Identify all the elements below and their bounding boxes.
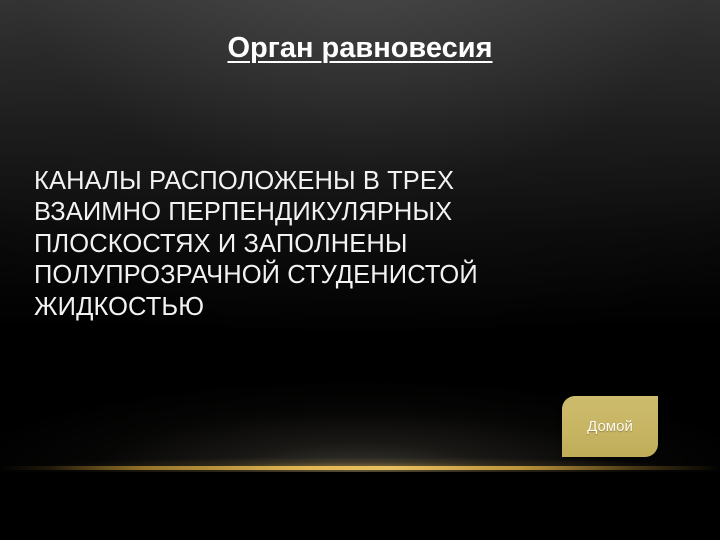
body-line: КАНАЛЫ РАСПОЛОЖЕНЫ В ТРЕХ xyxy=(34,166,594,197)
home-button-label: Домой xyxy=(587,418,633,436)
home-button[interactable]: Домой xyxy=(562,396,658,457)
body-line: ПОЛУПРОЗРАЧНОЙ СТУДЕНИСТОЙ xyxy=(34,260,594,291)
slide-body-text: КАНАЛЫ РАСПОЛОЖЕНЫ В ТРЕХ ВЗАИМНО ПЕРПЕН… xyxy=(34,166,594,323)
body-line: ВЗАИМНО ПЕРПЕНДИКУЛЯРНЫХ xyxy=(34,197,594,228)
slide-content: Орган равновесия КАНАЛЫ РАСПОЛОЖЕНЫ В ТР… xyxy=(0,0,720,540)
slide-title: Орган равновесия xyxy=(0,29,720,67)
body-line: ПЛОСКОСТЯХ И ЗАПОЛНЕНЫ xyxy=(34,229,594,260)
presentation-slide: Орган равновесия КАНАЛЫ РАСПОЛОЖЕНЫ В ТР… xyxy=(0,0,720,540)
slide-title-text: Орган равновесия xyxy=(227,32,492,64)
body-line: ЖИДКОСТЬЮ xyxy=(34,292,594,323)
